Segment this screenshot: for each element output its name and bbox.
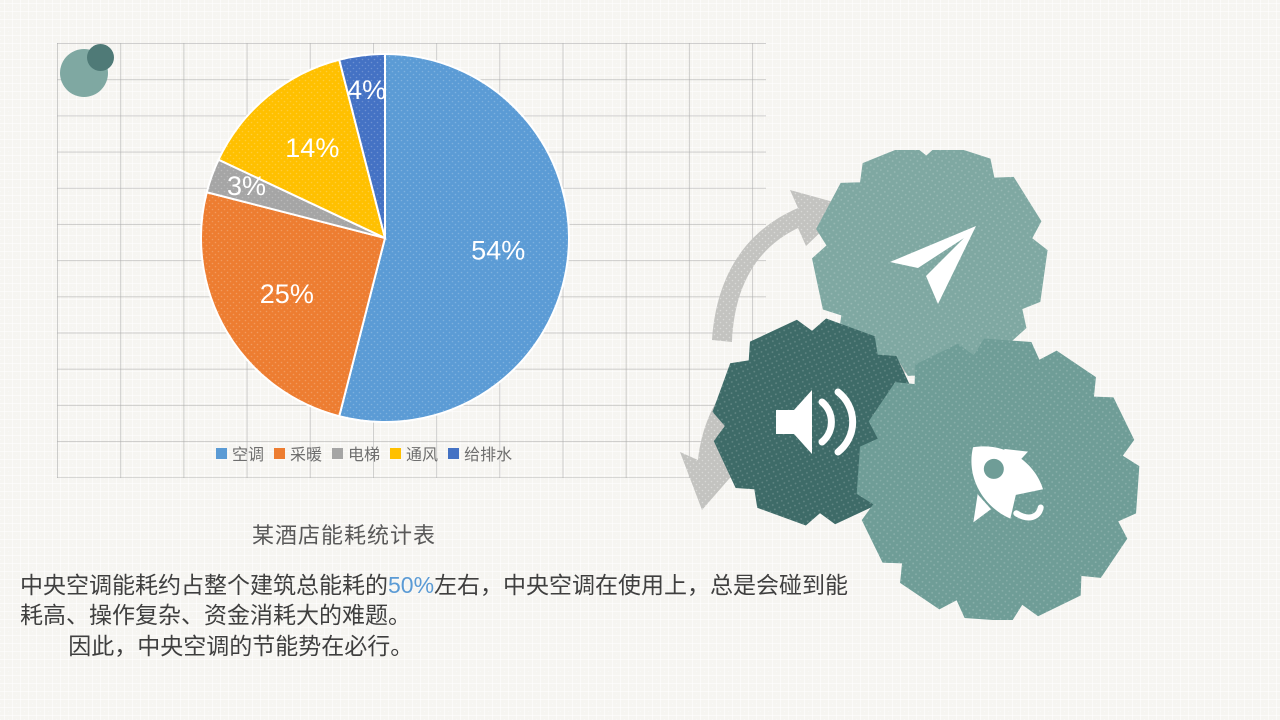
brand-circles-logo — [60, 44, 115, 99]
chart-caption: 某酒店能耗统计表 — [252, 518, 436, 550]
legend-swatch-icon — [390, 448, 401, 459]
legend-label: 空调 — [232, 441, 264, 465]
legend-label: 采暖 — [290, 441, 322, 465]
pie-slice-label-采暖: 25% — [260, 279, 314, 309]
legend-item-空调[interactable]: 空调 — [216, 441, 264, 465]
legend-swatch-icon — [274, 448, 285, 459]
pie-slice-label-空调: 54% — [471, 235, 525, 265]
pie-chart: 54%25%3%14%4% — [180, 40, 600, 470]
legend-label: 通风 — [406, 441, 438, 465]
pie-slice-label-给排水: 4% — [347, 75, 386, 105]
legend-item-给排水[interactable]: 给排水 — [448, 441, 512, 465]
logo-small-circle — [87, 44, 114, 71]
legend-swatch-icon — [216, 448, 227, 459]
legend-label: 电梯 — [348, 441, 380, 465]
slide-canvas: 54%25%3%14%4% 空调采暖电梯通风给排水 某酒店能耗统计表 中央空调能… — [0, 0, 1280, 720]
gear-illustration — [680, 150, 1280, 620]
pie-slice-label-通风: 14% — [285, 133, 339, 163]
body-line1-pre: 中央空调能耗约占整个建筑总能耗的 — [20, 572, 388, 598]
legend-swatch-icon — [332, 448, 343, 459]
legend-item-通风[interactable]: 通风 — [390, 441, 438, 465]
body-highlight-value: 50% — [388, 572, 434, 598]
legend-item-采暖[interactable]: 采暖 — [274, 441, 322, 465]
body-line2: 因此，中央空调的节能势在必行。 — [20, 631, 870, 661]
pie-slice-label-电梯: 3% — [227, 171, 266, 201]
legend-swatch-icon — [448, 448, 459, 459]
legend-label: 给排水 — [464, 441, 512, 465]
chart-legend: 空调采暖电梯通风给排水 — [216, 441, 512, 465]
legend-item-电梯[interactable]: 电梯 — [332, 441, 380, 465]
